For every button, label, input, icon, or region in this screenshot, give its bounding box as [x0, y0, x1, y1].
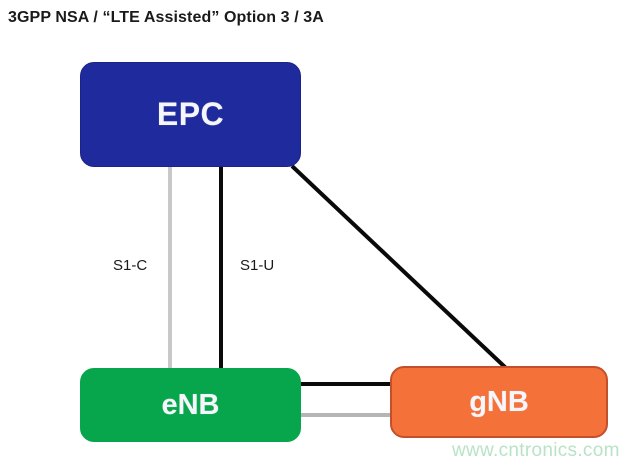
node-gnb[interactable]: gNB — [390, 366, 608, 438]
node-gnb-label: gNB — [469, 386, 529, 419]
node-enb-label: eNB — [161, 389, 219, 422]
node-epc-label: EPC — [157, 96, 224, 133]
link-label-s1c: S1-C — [113, 257, 147, 274]
node-enb[interactable]: eNB — [80, 368, 301, 442]
link-epc-gnb-user — [292, 166, 507, 369]
link-label-s1u: S1-U — [240, 257, 274, 274]
diagram-canvas: 3GPP NSA / “LTE Assisted” Option 3 / 3A … — [0, 0, 640, 467]
node-epc[interactable]: EPC — [80, 62, 301, 167]
